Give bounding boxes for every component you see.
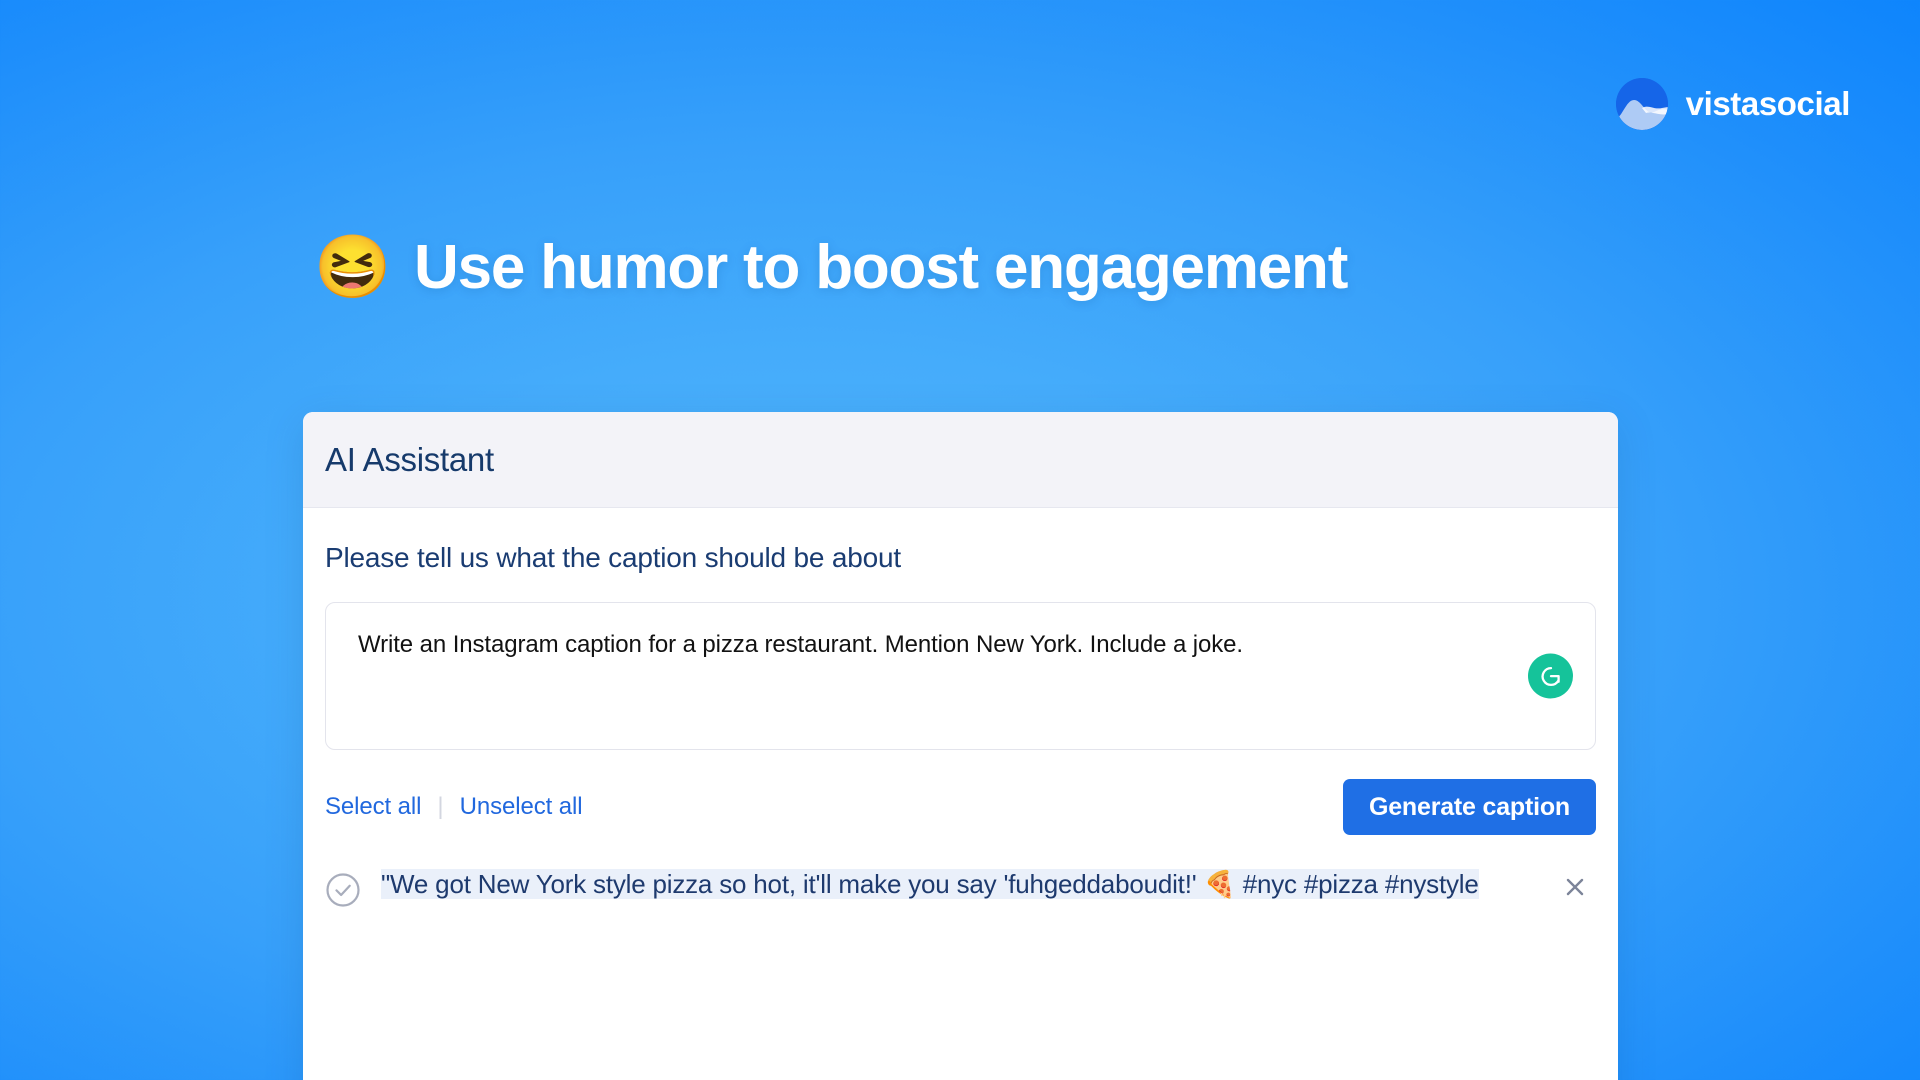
prompt-label: Please tell us what the caption should b… xyxy=(325,542,1596,574)
card-body: Please tell us what the caption should b… xyxy=(303,508,1618,908)
page-title: Use humor to boost engagement xyxy=(414,232,1347,303)
prompt-input[interactable]: Write an Instagram caption for a pizza r… xyxy=(325,602,1596,750)
card-title: AI Assistant xyxy=(325,441,494,479)
close-icon[interactable] xyxy=(1558,870,1592,904)
list-item[interactable]: "We got New York style pizza so hot, it'… xyxy=(325,866,1596,908)
page-headline: 😆 Use humor to boost engagement xyxy=(320,232,1347,303)
card-header: AI Assistant xyxy=(303,412,1618,508)
vistasocial-wave-circle-icon xyxy=(1616,78,1668,130)
selection-links: Select all | Unselect all xyxy=(325,793,582,821)
check-circle-icon[interactable] xyxy=(325,872,361,908)
select-all-link[interactable]: Select all xyxy=(325,793,421,821)
unselect-all-link[interactable]: Unselect all xyxy=(460,793,583,821)
brand-logo[interactable]: vistasocial xyxy=(1616,78,1850,130)
generated-caption-text[interactable]: "We got New York style pizza so hot, it'… xyxy=(381,869,1479,899)
generate-caption-button[interactable]: Generate caption xyxy=(1343,779,1596,835)
ai-assistant-card: AI Assistant Please tell us what the cap… xyxy=(303,412,1618,1080)
brand-name: vistasocial xyxy=(1686,85,1850,123)
link-separator: | xyxy=(437,793,443,821)
action-row: Select all | Unselect all Generate capti… xyxy=(325,776,1596,838)
prompt-input-value[interactable]: Write an Instagram caption for a pizza r… xyxy=(358,629,1503,661)
result-text-wrapper: "We got New York style pizza so hot, it'… xyxy=(381,866,1538,903)
grammarly-icon[interactable] xyxy=(1528,654,1573,699)
laughing-squinting-face-emoji: 😆 xyxy=(320,235,386,301)
